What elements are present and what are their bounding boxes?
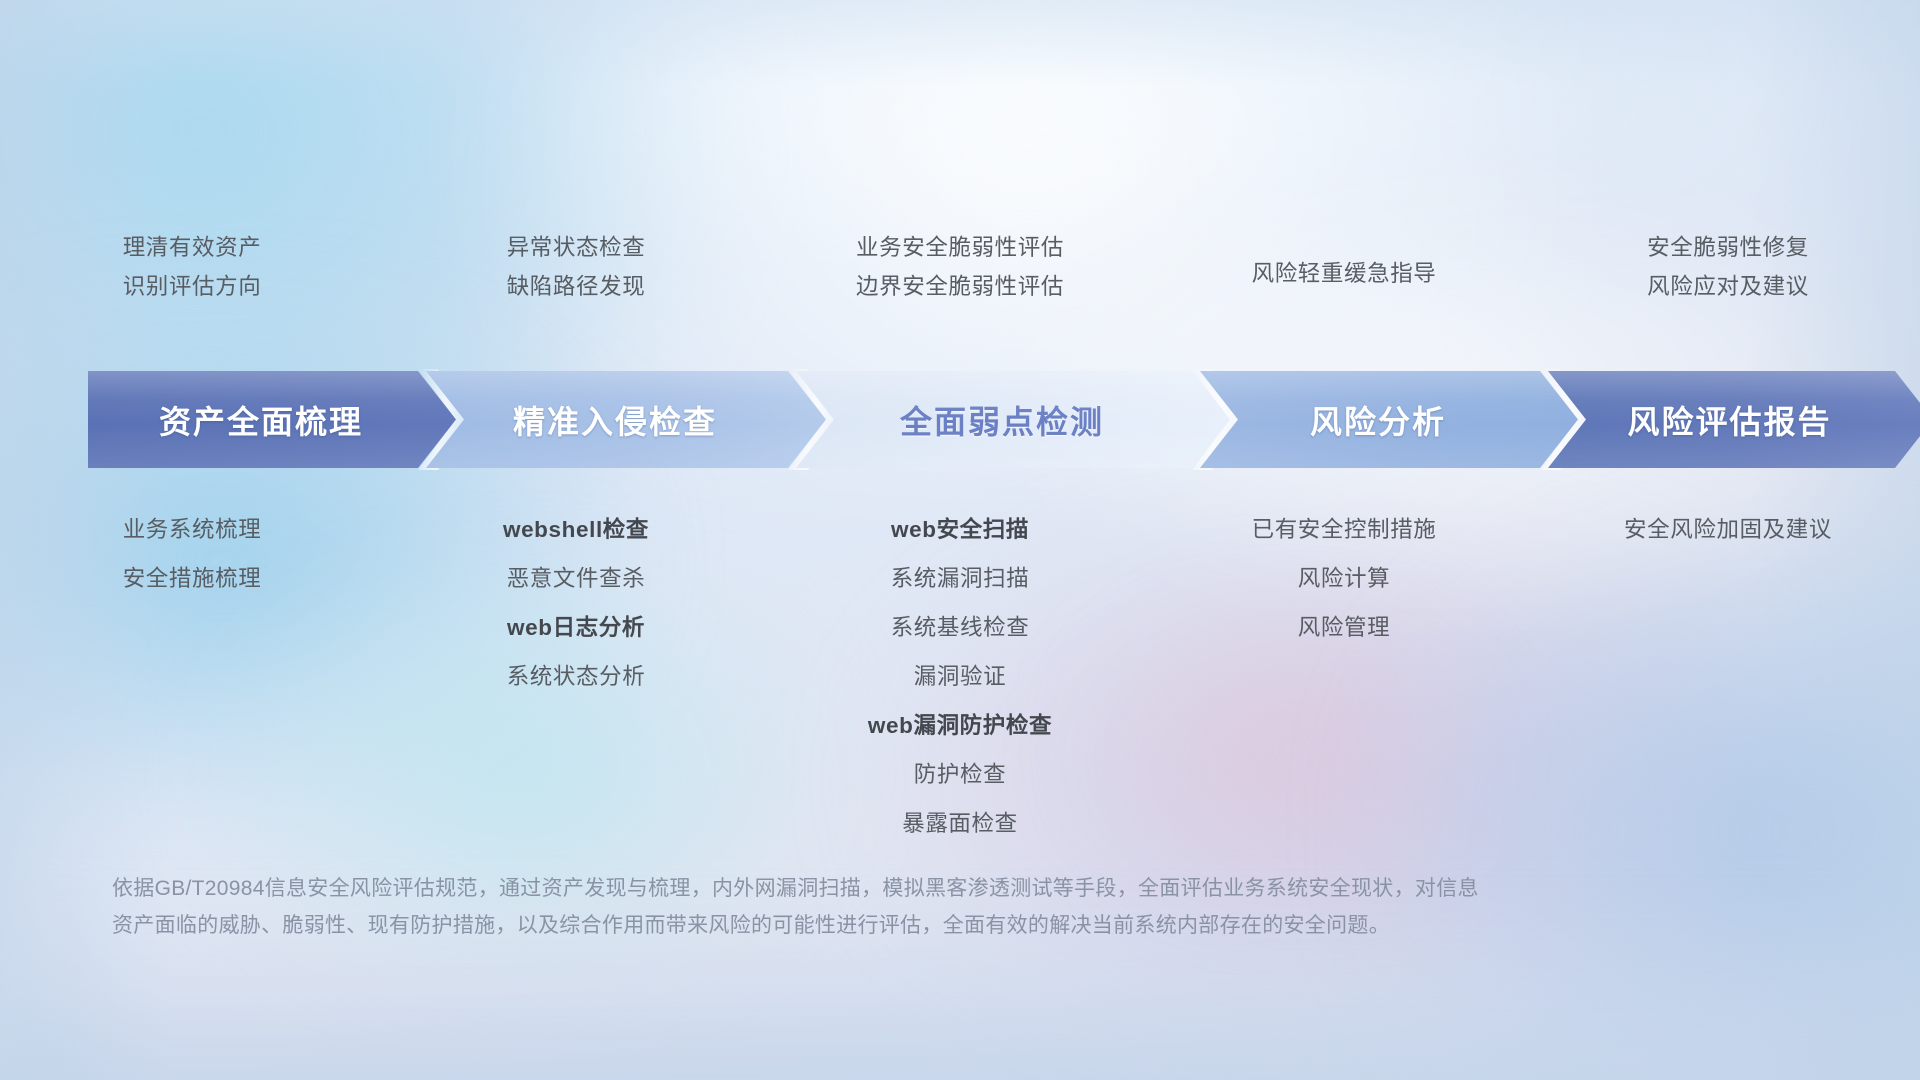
process-diagram: 理清有效资产 识别评估方向 异常状态检查 缺陷路径发现 业务安全脆弱性评估 边界… [0, 0, 1920, 1080]
caption-group-above-stage-5: 安全脆弱性修复 风险应对及建议 [1536, 228, 1920, 306]
caption-group-below-stage-1: 业务系统梳理 安全措施梳理 [0, 505, 384, 603]
caption-below-text: 系统状态分析 [507, 652, 646, 701]
caption-above-text: 异常状态检查 [507, 228, 646, 267]
caption-below-text: web漏洞防护检查 [868, 701, 1052, 750]
caption-above-text: 边界安全脆弱性评估 [856, 267, 1064, 306]
caption-below-text: 业务系统梳理 [123, 505, 262, 554]
caption-below-text: 恶意文件查杀 [507, 554, 646, 603]
caption-above-text: 风险应对及建议 [1647, 267, 1809, 306]
caption-below-text: 已有安全控制措施 [1252, 505, 1437, 554]
caption-group-below-stage-4: 已有安全控制措施 风险计算 风险管理 [1152, 505, 1536, 652]
caption-below-text: 防护检查 [914, 750, 1006, 799]
footer-line: 资产面临的威胁、脆弱性、现有防护措施，以及综合作用而带来风险的可能性进行评估，全… [112, 907, 1632, 944]
stage-arrow-5[interactable]: 风险评估报告 [1548, 371, 1920, 468]
caption-above-text: 风险轻重缓急指导 [1252, 254, 1437, 293]
caption-above-text: 安全脆弱性修复 [1647, 228, 1809, 267]
stage-arrow-band: 资产全面梳理 精准入侵检查 全面弱点检测 风险分析 风险评估报告 [88, 371, 1833, 468]
caption-below-text: webshell检查 [503, 505, 649, 554]
stage-arrow-4[interactable]: 风险分析 [1200, 371, 1578, 468]
caption-above-text: 理清有效资产 [123, 228, 262, 267]
caption-group-below-stage-3: web安全扫描 系统漏洞扫描 系统基线检查 漏洞验证 web漏洞防护检查 防护检… [768, 505, 1152, 848]
stage-arrow-label: 全面弱点检测 [900, 397, 1104, 443]
caption-group-above-stage-1: 理清有效资产 识别评估方向 [0, 228, 384, 306]
stage-arrow-label: 风险分析 [1310, 397, 1446, 443]
caption-group-above-stage-4: 风险轻重缓急指导 [1152, 228, 1536, 293]
stage-arrow-label: 资产全面梳理 [159, 397, 363, 443]
caption-above-text: 缺陷路径发现 [507, 267, 646, 306]
captions-above-row: 理清有效资产 识别评估方向 异常状态检查 缺陷路径发现 业务安全脆弱性评估 边界… [0, 228, 1920, 348]
stage-arrow-label: 风险评估报告 [1627, 397, 1831, 443]
stage-arrow-2[interactable]: 精准入侵检查 [426, 371, 826, 468]
caption-below-text: 系统基线检查 [891, 603, 1030, 652]
caption-below-text: 暴露面检查 [902, 799, 1018, 848]
caption-group-above-stage-3: 业务安全脆弱性评估 边界安全脆弱性评估 [768, 228, 1152, 306]
caption-group-above-stage-2: 异常状态检查 缺陷路径发现 [384, 228, 768, 306]
footer-description: 依据GB/T20984信息安全风险评估规范，通过资产发现与梳理，内外网漏洞扫描，… [112, 870, 1632, 944]
caption-below-text: 安全风险加固及建议 [1624, 505, 1832, 554]
caption-below-text: 漏洞验证 [914, 652, 1006, 701]
caption-below-text: 系统漏洞扫描 [891, 554, 1030, 603]
stage-arrow-1[interactable]: 资产全面梳理 [88, 371, 456, 468]
stage-arrow-3[interactable]: 全面弱点检测 [796, 371, 1230, 468]
captions-below-row: 业务系统梳理 安全措施梳理 webshell检查 恶意文件查杀 web日志分析 … [0, 505, 1920, 835]
caption-below-text: web安全扫描 [891, 505, 1029, 554]
caption-group-below-stage-5: 安全风险加固及建议 [1536, 505, 1920, 554]
caption-group-below-stage-2: webshell检查 恶意文件查杀 web日志分析 系统状态分析 [384, 505, 768, 701]
caption-above-text: 识别评估方向 [123, 267, 262, 306]
footer-line: 依据GB/T20984信息安全风险评估规范，通过资产发现与梳理，内外网漏洞扫描，… [112, 870, 1632, 907]
caption-below-text: 风险管理 [1298, 603, 1390, 652]
stage-arrow-label: 精准入侵检查 [513, 397, 717, 443]
caption-below-text: web日志分析 [507, 603, 645, 652]
caption-above-text: 业务安全脆弱性评估 [856, 228, 1064, 267]
caption-below-text: 风险计算 [1298, 554, 1390, 603]
caption-below-text: 安全措施梳理 [123, 554, 262, 603]
